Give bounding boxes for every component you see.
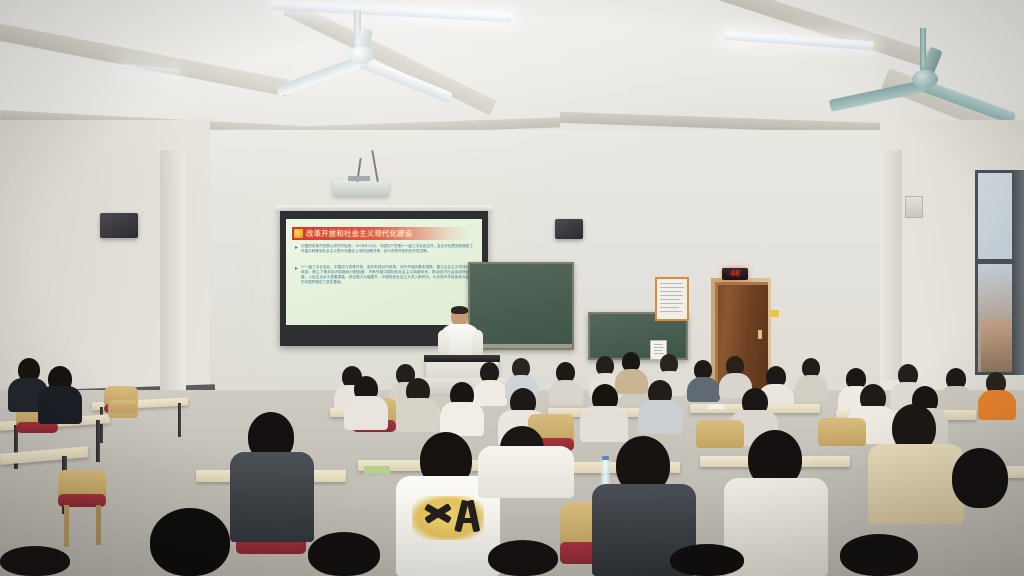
wall-speaker-right (555, 219, 583, 239)
student-torso (38, 386, 82, 424)
clock-display: 48 (722, 268, 748, 280)
desk-leg (178, 403, 181, 437)
slide-paragraph-1: 中国的改革开放是从农村开始的。1978年12月，中国共产党第十一届三中全会召开，… (301, 244, 473, 262)
wall-speaker-left (100, 213, 138, 238)
poster-text-line (660, 307, 679, 308)
student-torso (549, 380, 583, 405)
fan-motor-housing (348, 46, 374, 64)
poster-text-line (660, 291, 681, 292)
student-torso (615, 369, 648, 394)
party-emblem-icon (294, 229, 303, 238)
fan-blade (829, 80, 925, 112)
student-head-foreground (670, 544, 744, 576)
student-torso (344, 396, 388, 430)
window-frame-right-edge (1012, 170, 1024, 375)
student-head-foreground (308, 532, 380, 576)
chair-back[interactable] (818, 418, 866, 446)
student-torso (440, 402, 484, 436)
fan-motor-housing (912, 70, 938, 88)
student-torso (396, 398, 440, 432)
poster-text-line (660, 283, 682, 284)
poster-text-line (660, 287, 684, 288)
student-head-foreground (840, 534, 918, 576)
student-torso-orange (978, 390, 1016, 420)
notice-text-line (654, 347, 664, 348)
projector-mount-bracket (348, 176, 370, 181)
door-handle-icon[interactable] (758, 330, 762, 339)
empty-chair-back[interactable] (108, 400, 138, 418)
poster-text-line (660, 303, 683, 304)
wall-notice-poster (655, 277, 689, 321)
desk-leg (100, 407, 103, 443)
notice-text-line (654, 350, 662, 351)
notice-text-line (654, 353, 664, 354)
student-torso (687, 377, 720, 402)
slide-bullet-icon (295, 246, 298, 249)
poster-text-line (660, 311, 682, 312)
lecture-hall-photo: 改革开放和社会主义现代化建设 中国的改革开放是从农村开始的。1978年12月，中… (0, 0, 1024, 576)
notebook-paper (364, 466, 390, 474)
student-head-foreground (0, 546, 70, 576)
chair-back[interactable] (696, 420, 744, 448)
podium-top-surface (424, 355, 500, 362)
fan-blade (922, 80, 1016, 124)
student-head-foreground (488, 540, 558, 576)
digital-clock: 48 (722, 268, 748, 280)
chair-leg (64, 505, 69, 547)
student-torso (473, 380, 507, 406)
water-bottle[interactable] (601, 459, 610, 487)
desk-leg (96, 420, 100, 462)
student-torso (478, 446, 574, 498)
electrical-box-right (905, 196, 923, 218)
poster-text-line (660, 295, 683, 296)
notebook-paper (708, 404, 724, 409)
ceiling-projector (333, 180, 389, 196)
student-torso (638, 400, 682, 434)
tshirt-graphic-letter-a-bar (459, 518, 477, 523)
chair-leg (96, 505, 101, 545)
bottle-cap (602, 456, 609, 460)
left-wall-pillar (160, 150, 186, 400)
back-wall (150, 130, 910, 390)
notice-text-line (654, 344, 663, 345)
student-head-foreground (150, 508, 230, 576)
slide-bullet-icon (295, 267, 298, 270)
student-torso (795, 375, 828, 401)
right-wall-pillar (880, 150, 902, 380)
student-torso (928, 498, 1024, 576)
ceiling-fan-front-right (820, 28, 1024, 118)
ceiling-fan-front-left (290, 10, 480, 80)
student-torso (230, 452, 314, 542)
student-torso (580, 406, 628, 442)
slide-title: 改革开放和社会主义现代化建设 (306, 228, 471, 239)
poster-text-line (660, 299, 680, 300)
lecturer-hair (451, 306, 468, 314)
wall-sign-yellow (770, 310, 779, 317)
